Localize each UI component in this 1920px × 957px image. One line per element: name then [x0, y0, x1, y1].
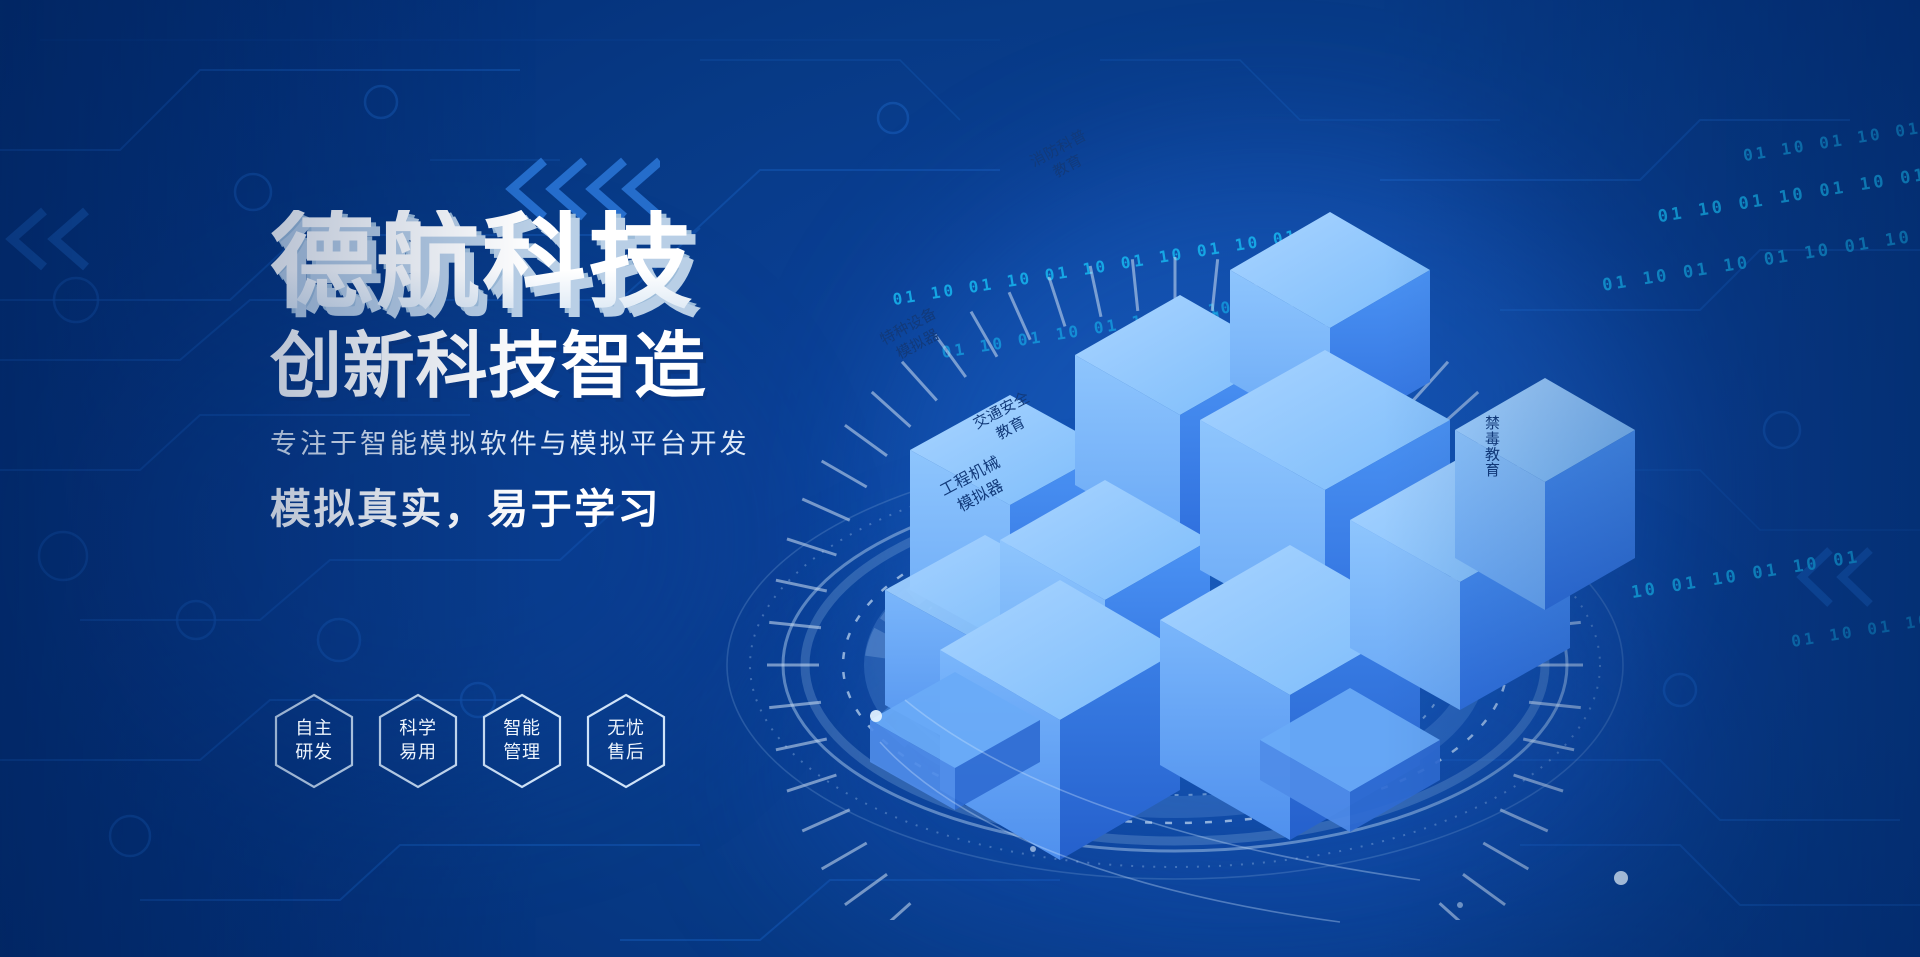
brand-title: 德航科技 德航科技 德航科技	[270, 210, 890, 318]
badge-label-line1: 科学	[399, 717, 436, 741]
badge-label-line2: 研发	[295, 741, 332, 765]
badge-label: 科学 易用	[399, 717, 436, 765]
feature-badges: 自主 研发 科学 易用 智能 管理	[272, 692, 668, 790]
badge-label-line1: 自主	[295, 717, 332, 741]
badge-label-line2: 易用	[399, 741, 436, 765]
badge-label-line1: 无忧	[607, 717, 644, 741]
badge-label-line2: 管理	[503, 741, 540, 765]
cube-label-anti-drug-education: 禁毒教育	[1482, 415, 1500, 477]
badge-label: 无忧 售后	[607, 717, 644, 765]
badge-label: 智能 管理	[503, 717, 540, 765]
badge-independent-rd[interactable]: 自主 研发	[272, 692, 356, 790]
badge-scientific-easy[interactable]: 科学 易用	[376, 692, 460, 790]
badge-smart-management[interactable]: 智能 管理	[480, 692, 564, 790]
badge-label-line1: 智能	[503, 717, 540, 741]
hero-headline: 创新科技智造	[270, 328, 890, 406]
chevron-arrows-left	[0, 205, 110, 275]
badge-label-line2: 售后	[607, 741, 644, 765]
hero-banner: 01 10 01 10 01 10 01 10 01 10 01 10 01 1…	[0, 0, 1920, 957]
hero-slogan: 模拟真实，易于学习	[270, 475, 890, 535]
hero-copy: 德航科技 德航科技 德航科技 创新科技智造 专注于智能模拟软件与模拟平台开发 模…	[270, 210, 890, 535]
brand-title-text: 德航科技	[270, 210, 694, 314]
badge-label: 自主 研发	[295, 717, 332, 765]
badge-worry-free-service[interactable]: 无忧 售后	[584, 692, 668, 790]
hero-subtitle: 专注于智能模拟软件与模拟平台开发	[270, 422, 890, 461]
